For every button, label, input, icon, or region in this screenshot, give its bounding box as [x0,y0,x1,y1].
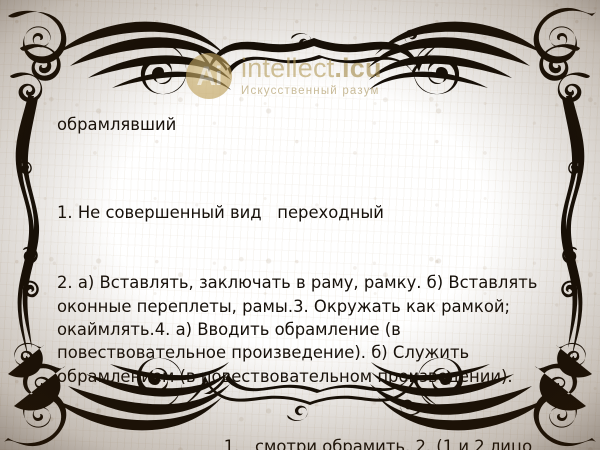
definition-paragraph-2: 2. а) Вставлять, заключать в раму, рамку… [57,271,549,388]
definition-paragraph-3: 1. смотри обрамить. 2. (1 и 2 лицо не уп… [57,435,549,450]
definition-paragraph-1: 1. Не совершенный вид переходный [57,201,549,224]
ornament-right-border [542,96,600,396]
ornament-left-border [0,96,58,396]
dictionary-article: обрамлявший 1. Не совершенный вид перехо… [57,66,549,450]
slide-canvas: обрамлявший 1. Не совершенный вид перехо… [0,0,600,450]
headword: обрамлявший [57,113,549,136]
